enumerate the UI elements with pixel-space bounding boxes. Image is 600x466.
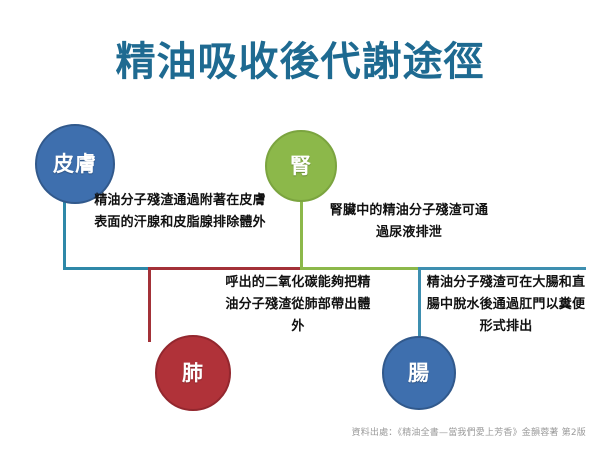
connector-kidney-vertical bbox=[300, 198, 303, 270]
description-lung: 呼出的二氧化碳能夠把精油分子殘渣從肺部帶出體外 bbox=[220, 272, 376, 338]
spine-segment-skin bbox=[63, 267, 149, 270]
description-kidney: 腎臟中的精油分子殘渣可通過尿液排泄 bbox=[326, 200, 492, 244]
page-title: 精油吸收後代謝途徑 bbox=[0, 38, 600, 86]
node-kidney[interactable]: 腎 bbox=[265, 130, 337, 202]
node-intestine-label: 腸 bbox=[408, 363, 430, 384]
connector-intestine-vertical bbox=[418, 267, 421, 344]
description-skin: 精油分子殘渣通過附著在皮膚表面的汗腺和皮脂腺排除體外 bbox=[92, 190, 268, 234]
spine-segment-lung bbox=[148, 267, 303, 270]
slide-canvas: 精油吸收後代謝途徑 皮膚 腎 肺 腸 精油分子殘渣通過附著在皮膚表面的汗腺和皮脂… bbox=[0, 0, 600, 466]
node-lung-label: 肺 bbox=[182, 363, 204, 384]
spine-segment-intestine bbox=[419, 267, 586, 270]
node-kidney-label: 腎 bbox=[290, 156, 312, 177]
connector-lung-vertical bbox=[148, 267, 151, 342]
spine-segment-kidney bbox=[301, 267, 421, 270]
source-note: 資料出處：《精油全書—當我們愛上芳香》金韻蓉著 第2版 bbox=[0, 427, 586, 440]
node-skin-label: 皮膚 bbox=[53, 154, 97, 175]
description-intestine: 精油分子殘渣可在大腸和直腸中脫水後通過肛門以糞便形式排出 bbox=[424, 272, 588, 338]
node-lung[interactable]: 肺 bbox=[155, 335, 231, 411]
connector-skin-vertical bbox=[63, 200, 66, 270]
node-intestine[interactable]: 腸 bbox=[382, 336, 456, 410]
